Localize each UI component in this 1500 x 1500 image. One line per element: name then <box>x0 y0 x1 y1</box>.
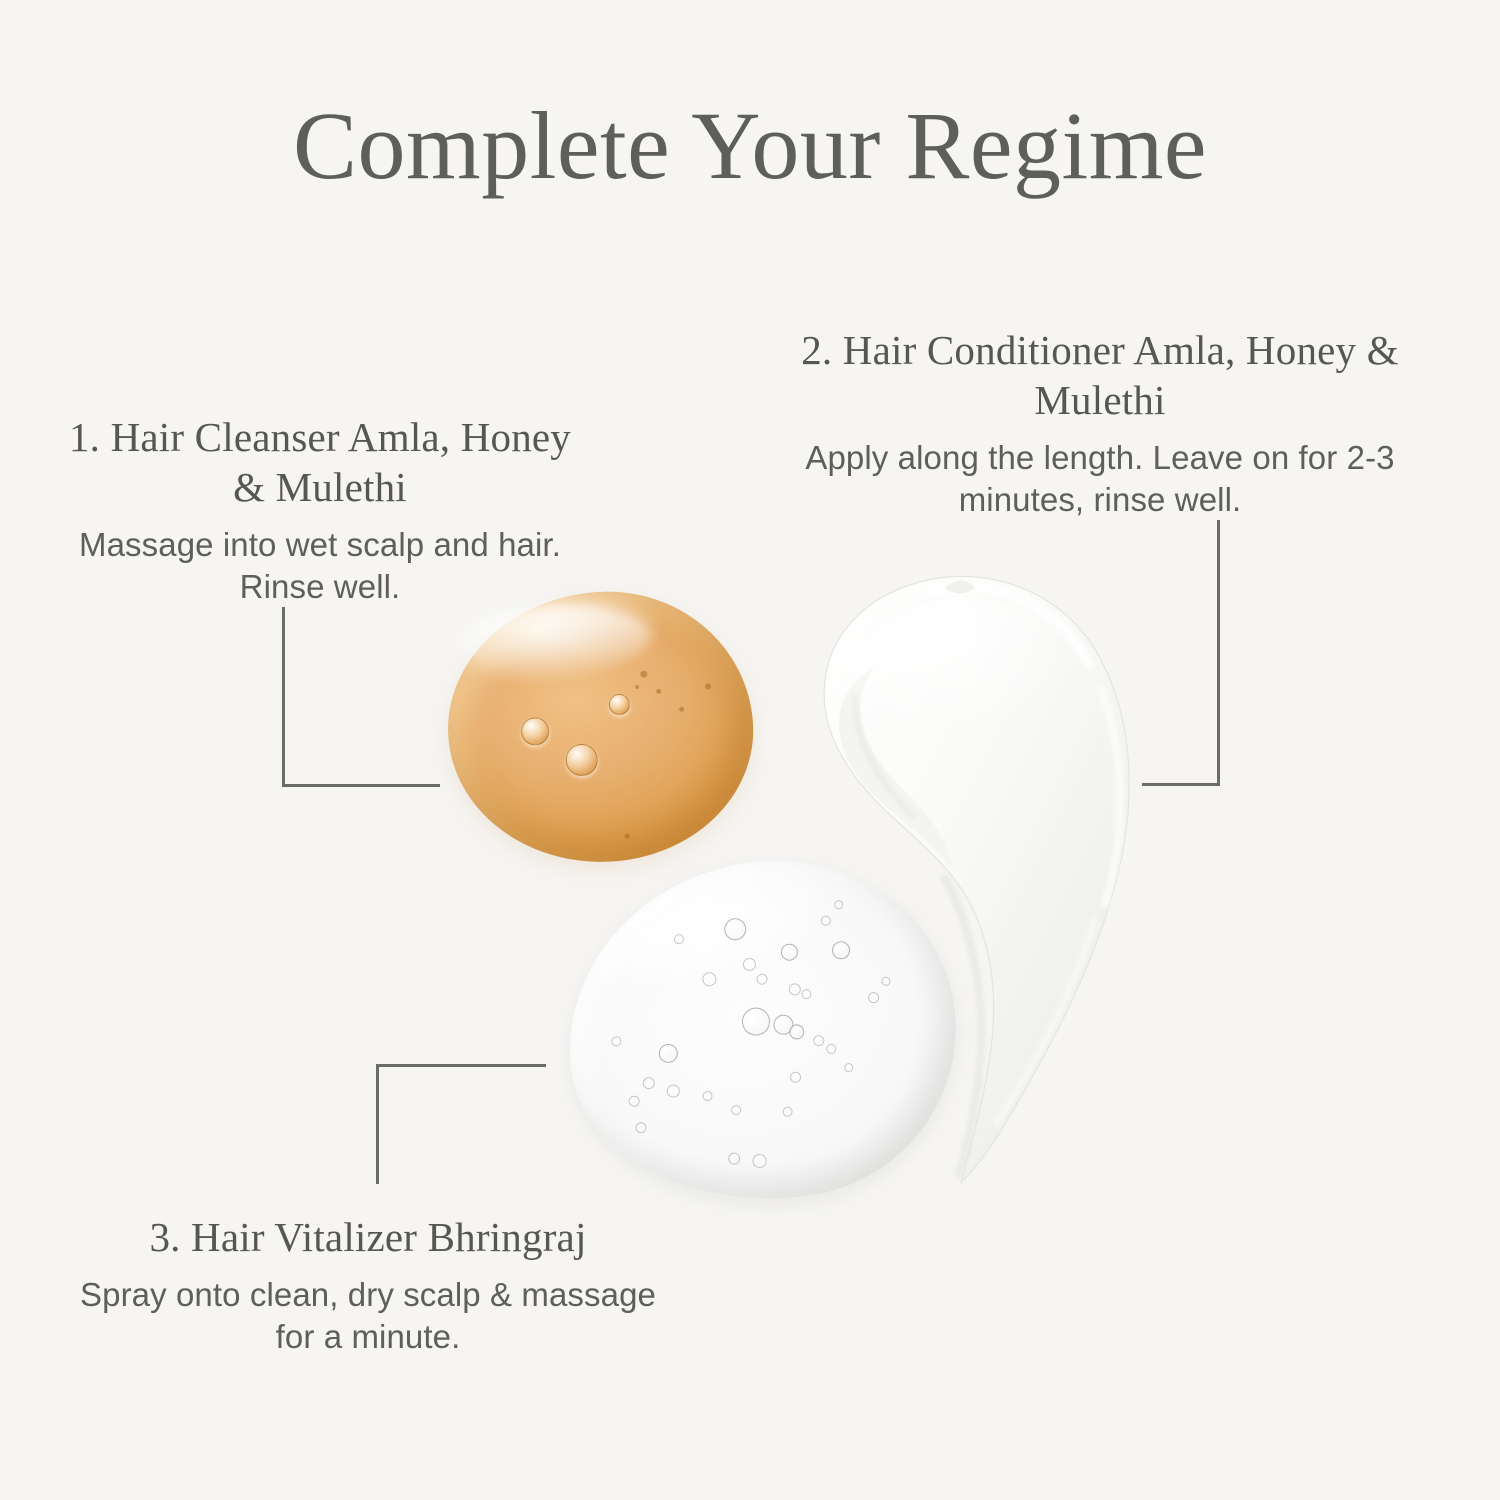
bubble-icon <box>820 915 831 926</box>
bubble-icon <box>743 957 757 971</box>
bubble-icon <box>780 942 799 961</box>
bubble-icon <box>752 1153 767 1168</box>
bubble-icon <box>608 693 630 715</box>
bubble-icon <box>628 1095 640 1107</box>
step-2-block: 2. Hair Conditioner Amla, Honey & Muleth… <box>800 325 1400 522</box>
leader-line-horizontal <box>1142 783 1220 786</box>
bubble-icon <box>813 1035 825 1047</box>
bubble-icon <box>728 1152 741 1165</box>
bubble-icon <box>658 1043 679 1064</box>
bubble-icon <box>843 1062 853 1072</box>
bubble-icon <box>834 900 844 910</box>
bubble-icon <box>679 706 684 711</box>
step-3-body: Spray onto clean, dry scalp & massage fo… <box>78 1274 658 1358</box>
leader-line-vertical <box>1217 520 1220 786</box>
bubble-icon <box>635 1121 647 1133</box>
step-1-block: 1. Hair Cleanser Amla, Honey & Mulethi M… <box>60 412 580 609</box>
honey-droplet-texture <box>441 584 760 870</box>
leader-line-horizontal <box>282 784 440 787</box>
bubble-icon <box>826 1044 837 1055</box>
bubble-icon <box>565 743 599 777</box>
bubble-icon <box>610 1036 621 1047</box>
bubble-icon <box>635 684 639 688</box>
bubble-icon <box>867 992 879 1004</box>
step-3-heading: 3. Hair Vitalizer Bhringraj <box>78 1212 658 1262</box>
step-1-heading: 1. Hair Cleanser Amla, Honey & Mulethi <box>60 412 580 512</box>
bubble-icon <box>740 1007 771 1038</box>
bubble-icon <box>723 917 747 941</box>
bubble-icon <box>731 1105 742 1116</box>
bubble-icon <box>788 983 801 996</box>
bubble-icon <box>701 971 716 986</box>
bubble-icon <box>801 989 812 1000</box>
leader-line-vertical <box>376 1064 379 1184</box>
bubble-icon <box>642 1076 655 1089</box>
bubble-icon <box>881 977 891 987</box>
bubble-icon <box>789 1023 805 1039</box>
page-title: Complete Your Regime <box>0 98 1500 194</box>
bubble-icon <box>831 940 851 960</box>
bubble-icon <box>782 1106 793 1117</box>
bubble-icon <box>666 1084 680 1098</box>
regime-infographic: Complete Your Regime <box>0 0 1500 1500</box>
step-3-block: 3. Hair Vitalizer Bhringraj Spray onto c… <box>78 1212 658 1358</box>
bubble-icon <box>756 973 768 985</box>
step-2-body: Apply along the length. Leave on for 2-3… <box>800 437 1400 521</box>
bubble-icon <box>640 670 647 677</box>
step-1-body: Massage into wet scalp and hair. Rinse w… <box>60 524 580 608</box>
bubble-icon <box>674 934 685 945</box>
bubble-icon <box>624 834 629 839</box>
bubble-icon <box>790 1071 802 1083</box>
bubble-icon <box>657 689 662 694</box>
bubble-icon <box>702 1091 713 1102</box>
bubble-icon <box>705 683 711 689</box>
leader-line-horizontal <box>376 1064 546 1067</box>
step-2-heading: 2. Hair Conditioner Amla, Honey & Muleth… <box>800 325 1400 425</box>
bubble-icon <box>521 716 550 745</box>
leader-line-vertical <box>282 607 285 787</box>
